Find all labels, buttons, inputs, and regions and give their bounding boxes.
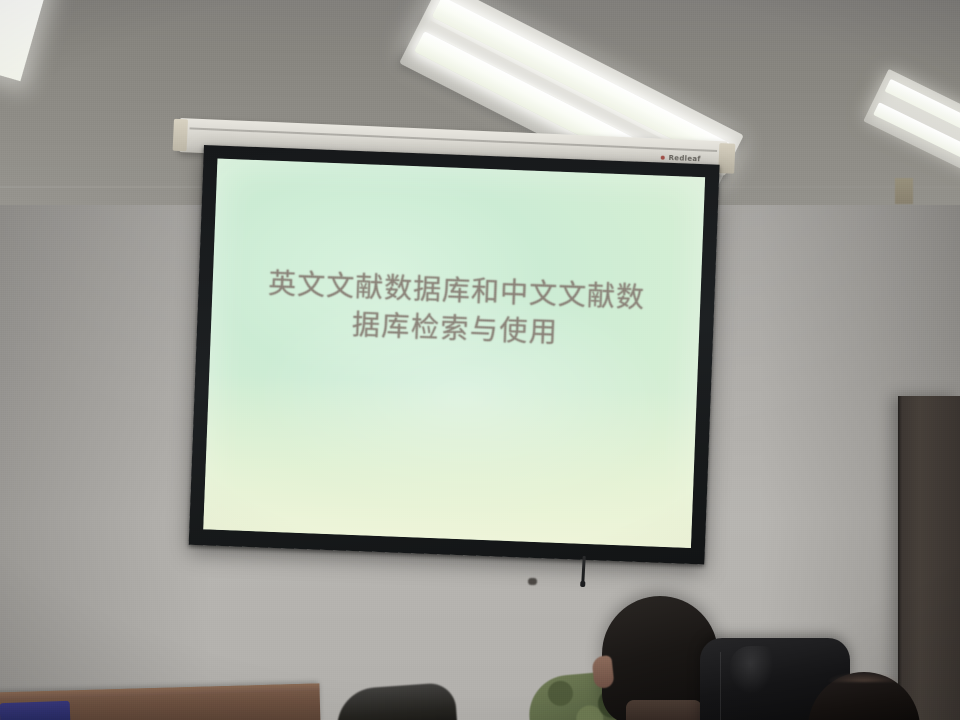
- roller-end-cap-left: [173, 119, 188, 152]
- wall-outlet-plate: [895, 178, 913, 204]
- wall-speck: [528, 578, 537, 585]
- roller-end-cap-right: [718, 143, 735, 174]
- hair-highlight: [812, 668, 916, 682]
- person-neck: [626, 700, 702, 720]
- brand-dot-icon: [660, 156, 664, 160]
- slide-title: 英文文献数据库和中文文献数 据库检索与使用: [211, 262, 702, 357]
- chair-seam: [720, 652, 721, 720]
- photograph-canvas: Redleaf 英文文献数据库和中文文献数 据库检索与使用: [0, 0, 960, 720]
- chair-sheen: [730, 646, 782, 706]
- slide-warm-falloff: [203, 374, 697, 548]
- person-head-second: [808, 672, 920, 720]
- projected-slide-surface: 英文文献数据库和中文文献数 据库检索与使用: [203, 159, 705, 548]
- screen-black-frame: 英文文献数据库和中文文献数 据库检索与使用: [189, 145, 720, 565]
- blue-object-on-desk: [0, 701, 70, 720]
- person-ear: [591, 655, 614, 689]
- projection-screen-assembly: Redleaf 英文文献数据库和中文文献数 据库检索与使用: [178, 118, 738, 568]
- brand-name-label: Redleaf: [668, 154, 700, 163]
